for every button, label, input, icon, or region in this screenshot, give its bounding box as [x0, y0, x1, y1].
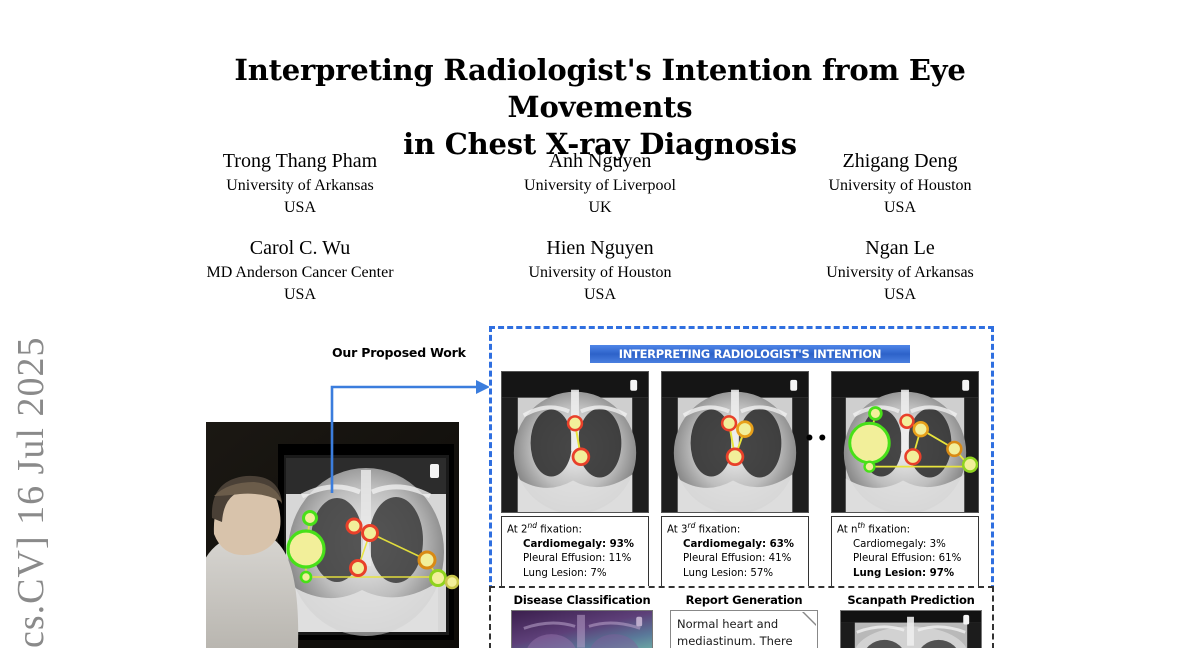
task-scanpath-prediction: Scanpath Prediction: [836, 593, 986, 648]
document-fold-corner: [803, 611, 817, 625]
author-row-first: Trong Thang Pham University of Arkansas …: [150, 148, 1050, 219]
author-block: Ngan Le University of Arkansas USA: [750, 235, 1050, 306]
fixation-heading: At 3rd fixation:: [667, 521, 803, 538]
author-block: Carol C. Wu MD Anderson Cancer Center US…: [150, 235, 450, 306]
author-block: Trong Thang Pham University of Arkansas …: [150, 148, 450, 219]
prediction-line: Cardiomegaly: 63%: [667, 538, 803, 552]
author-name: Trong Thang Pham: [150, 148, 450, 175]
fixation-caption-box: At 2nd fixation: Cardiomegaly: 93% Pleur…: [501, 516, 649, 588]
intention-panel: INTERPRETING RADIOLOGIST'S INTENTION: [489, 326, 994, 600]
task-disease-classification: Disease Classification: [507, 593, 657, 648]
paper-page: cs.CV] 16 Jul 2025 Interpreting Radiolog…: [0, 0, 1200, 648]
author-affiliation: University of Liverpool: [450, 175, 750, 197]
fixation-heading-prefix: At 3: [667, 524, 688, 535]
grayscale-xray-image: [841, 611, 981, 648]
title-line-1: Interpreting Radiologist's Intention fro…: [140, 52, 1060, 126]
task-label: Report Generation: [669, 593, 819, 607]
fixation-caption-box: At 3rd fixation: Cardiomegaly: 63% Pleur…: [661, 516, 809, 588]
author-block: Anh Nguyen University of Liverpool UK: [450, 148, 750, 219]
xray-image: [502, 372, 648, 512]
fixation-step-column: At nth fixation: Cardiomegaly: 3% Pleura…: [831, 371, 979, 588]
task-label: Scanpath Prediction: [836, 593, 986, 607]
author-country: USA: [750, 284, 1050, 306]
report-document: Normal heart and mediastinum. There may: [670, 610, 818, 648]
prediction-line: Lung Lesion: 97%: [837, 567, 973, 581]
scanpath-xray-thumb: [840, 610, 982, 648]
fixation-heading-ordinal: nd: [528, 521, 538, 530]
proposed-work-arrow: [328, 365, 490, 495]
teaser-figure: Our Proposed Work INTERPRETING RADIOLOGI…: [0, 320, 1200, 648]
author-country: USA: [750, 197, 1050, 219]
xray-image: [832, 372, 978, 512]
fixation-heading: At 2nd fixation:: [507, 521, 643, 538]
fixation-heading-suffix: fixation:: [865, 524, 910, 535]
prediction-line: Cardiomegaly: 93%: [507, 538, 643, 552]
author-country: USA: [450, 284, 750, 306]
prediction-line: Pleural Effusion: 11%: [507, 552, 643, 566]
author-name: Zhigang Deng: [750, 148, 1050, 175]
author-affiliation: University of Houston: [750, 175, 1050, 197]
fixation-step-column: At 2nd fixation: Cardiomegaly: 93% Pleur…: [501, 371, 649, 588]
author-block: Zhigang Deng University of Houston USA: [750, 148, 1050, 219]
author-name: Anh Nguyen: [450, 148, 750, 175]
downstream-tasks-panel: Disease Classification: [489, 586, 994, 648]
xray-panel-fixation-n: [831, 371, 979, 513]
xray-panel-fixation-3: [661, 371, 809, 513]
xray-image: [662, 372, 808, 512]
xray-panel-fixation-2: [501, 371, 649, 513]
author-affiliation: University of Arkansas: [150, 175, 450, 197]
heatmap-xray-image: [512, 611, 652, 648]
classification-heatmap-thumb: [511, 610, 653, 648]
fixation-heading-prefix: At n: [837, 524, 857, 535]
author-name: Hien Nguyen: [450, 235, 750, 262]
author-name: Ngan Le: [750, 235, 1050, 262]
author-affiliation: University of Houston: [450, 262, 750, 284]
author-block: Hien Nguyen University of Houston USA: [450, 235, 750, 306]
prediction-line: Cardiomegaly: 3%: [837, 538, 973, 552]
author-country: USA: [150, 197, 450, 219]
prediction-line: Pleural Effusion: 61%: [837, 552, 973, 566]
fixation-heading: At nth fixation:: [837, 521, 973, 538]
fixation-step-column: At 3rd fixation: Cardiomegaly: 63% Pleur…: [661, 371, 809, 588]
report-text: Normal heart and mediastinum. There may: [677, 617, 793, 648]
author-row-second: Carol C. Wu MD Anderson Cancer Center US…: [150, 235, 1050, 306]
author-country: UK: [450, 197, 750, 219]
proposed-work-label: Our Proposed Work: [332, 345, 466, 360]
intention-banner: INTERPRETING RADIOLOGIST'S INTENTION: [590, 345, 910, 363]
prediction-line: Lung Lesion: 7%: [507, 567, 643, 581]
prediction-line: Lung Lesion: 57%: [667, 567, 803, 581]
fixation-caption-box: At nth fixation: Cardiomegaly: 3% Pleura…: [831, 516, 979, 588]
author-name: Carol C. Wu: [150, 235, 450, 262]
author-country: USA: [150, 284, 450, 306]
author-affiliation: University of Arkansas: [750, 262, 1050, 284]
prediction-line: Pleural Effusion: 41%: [667, 552, 803, 566]
fixation-heading-suffix: fixation:: [695, 524, 740, 535]
task-report-generation: Report Generation Normal heart and media…: [669, 593, 819, 648]
fixation-heading-suffix: fixation:: [537, 524, 582, 535]
fixation-heading-prefix: At 2: [507, 524, 528, 535]
author-affiliation: MD Anderson Cancer Center: [150, 262, 450, 284]
task-label: Disease Classification: [507, 593, 657, 607]
page-title: Interpreting Radiologist's Intention fro…: [140, 52, 1060, 163]
